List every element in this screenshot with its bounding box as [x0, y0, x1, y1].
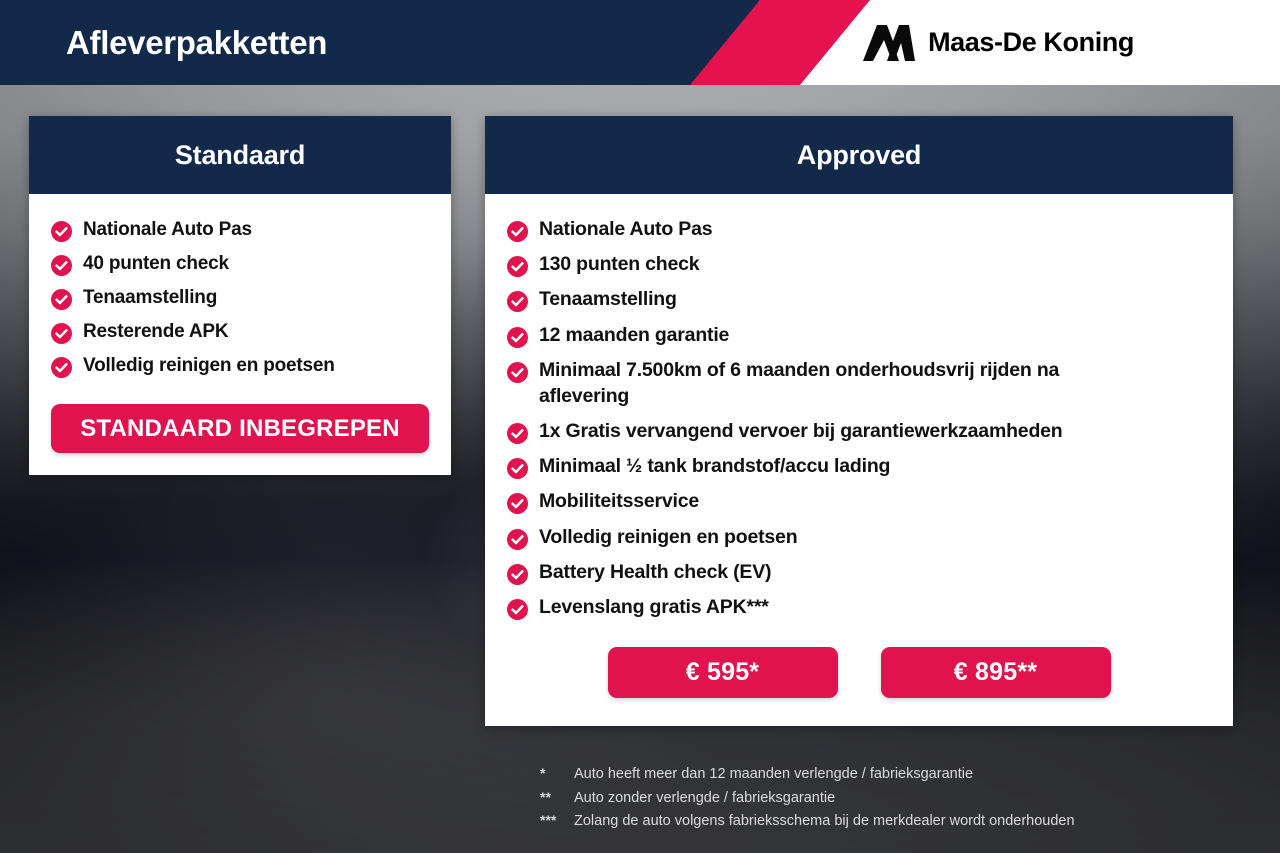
price-button-895[interactable]: € 895**: [881, 647, 1111, 698]
feature-label: Mobiliteitsservice: [539, 489, 699, 515]
card-header-standaard: Standaard: [29, 116, 451, 194]
price-button-595[interactable]: € 595*: [608, 647, 838, 698]
footnote-marker: **: [540, 788, 574, 807]
brand-name: Maas-De Koning: [928, 27, 1134, 58]
check-circle-icon: [507, 599, 528, 620]
standaard-inbegrepen-button[interactable]: STANDAARD INBEGREPEN: [51, 404, 429, 453]
card-body-standaard: Nationale Auto Pas 40 punten check Tenaa…: [29, 194, 451, 475]
check-circle-icon: [507, 423, 528, 444]
feature-label: Battery Health check (EV): [539, 560, 771, 586]
feature-label: Minimaal 7.500km of 6 maanden onderhouds…: [539, 358, 1154, 409]
feature-list-approved: Nationale Auto Pas 130 punten check Tena…: [507, 217, 1211, 621]
feature-item: Mobiliteitsservice: [507, 489, 1211, 515]
feature-label: Volledig reinigen en poetsen: [83, 353, 335, 378]
feature-label: Tenaamstelling: [83, 285, 217, 310]
feature-item: Nationale Auto Pas: [51, 217, 429, 242]
check-circle-icon: [51, 255, 72, 276]
poster-page: Afleverpakketten Maas-De Koning Standaar…: [0, 0, 1280, 853]
feature-item: Resterende APK: [51, 319, 429, 344]
check-circle-icon: [507, 493, 528, 514]
feature-label: 1x Gratis vervangend vervoer bij garanti…: [539, 419, 1063, 445]
feature-list-standaard: Nationale Auto Pas 40 punten check Tenaa…: [51, 217, 429, 378]
check-circle-icon: [507, 564, 528, 585]
footnote-row: ** Auto zonder verlengde / fabrieksgaran…: [540, 788, 1075, 809]
check-circle-icon: [51, 323, 72, 344]
feature-item: Tenaamstelling: [507, 287, 1211, 313]
check-circle-icon: [51, 221, 72, 242]
check-circle-icon: [507, 256, 528, 277]
card-title-standaard: Standaard: [175, 140, 305, 171]
card-title-approved: Approved: [797, 140, 921, 171]
page-header: Afleverpakketten Maas-De Koning: [0, 0, 1280, 85]
feature-label: Nationale Auto Pas: [83, 217, 252, 242]
feature-label: Levenslang gratis APK***: [539, 595, 769, 621]
feature-item: 40 punten check: [51, 251, 429, 276]
feature-item: Volledig reinigen en poetsen: [507, 525, 1211, 551]
feature-label: Resterende APK: [83, 319, 228, 344]
check-circle-icon: [51, 357, 72, 378]
check-circle-icon: [507, 362, 528, 383]
check-circle-icon: [507, 221, 528, 242]
feature-item: Minimaal ½ tank brandstof/accu lading: [507, 454, 1211, 480]
card-body-approved: Nationale Auto Pas 130 punten check Tena…: [485, 194, 1233, 726]
check-circle-icon: [507, 458, 528, 479]
feature-label: Tenaamstelling: [539, 287, 677, 313]
footnote-marker: ***: [540, 811, 574, 830]
feature-label: Volledig reinigen en poetsen: [539, 525, 797, 551]
footnote-marker: *: [540, 764, 574, 783]
footnote-text: Auto heeft meer dan 12 maanden verlengde…: [574, 765, 973, 785]
footnotes: * Auto heeft meer dan 12 maanden verleng…: [540, 764, 1075, 835]
maas-de-koning-m-monogram-icon: [863, 23, 915, 63]
footnote-text: Zolang de auto volgens fabrieksschema bi…: [574, 812, 1075, 832]
check-circle-icon: [51, 289, 72, 310]
feature-item: Nationale Auto Pas: [507, 217, 1211, 243]
footnote-row: * Auto heeft meer dan 12 maanden verleng…: [540, 764, 1075, 785]
feature-item: 12 maanden garantie: [507, 323, 1211, 349]
footnote-row: *** Zolang de auto volgens fabrieksschem…: [540, 811, 1075, 832]
feature-label: Minimaal ½ tank brandstof/accu lading: [539, 454, 890, 480]
feature-item: Levenslang gratis APK***: [507, 595, 1211, 621]
feature-item: Minimaal 7.500km of 6 maanden onderhouds…: [507, 358, 1211, 409]
feature-label: 12 maanden garantie: [539, 323, 729, 349]
check-circle-icon: [507, 529, 528, 550]
check-circle-icon: [507, 291, 528, 312]
feature-item: 130 punten check: [507, 252, 1211, 278]
card-header-approved: Approved: [485, 116, 1233, 194]
package-card-standaard: Standaard Nationale Auto Pas 40 punten c: [29, 116, 451, 475]
feature-label: Nationale Auto Pas: [539, 217, 712, 243]
check-circle-icon: [507, 327, 528, 348]
feature-item: Battery Health check (EV): [507, 560, 1211, 586]
price-button-row: € 595* € 895**: [507, 647, 1211, 698]
feature-label: 40 punten check: [83, 251, 229, 276]
feature-label: 130 punten check: [539, 252, 699, 278]
feature-item: 1x Gratis vervangend vervoer bij garanti…: [507, 419, 1211, 445]
brand-lockup: Maas-De Koning: [863, 0, 1134, 85]
page-title: Afleverpakketten: [66, 0, 327, 85]
footnote-text: Auto zonder verlengde / fabrieksgarantie: [574, 789, 835, 809]
package-card-approved: Approved Nationale Auto Pas 130 punten c: [485, 116, 1233, 726]
feature-item: Tenaamstelling: [51, 285, 429, 310]
feature-item: Volledig reinigen en poetsen: [51, 353, 429, 378]
